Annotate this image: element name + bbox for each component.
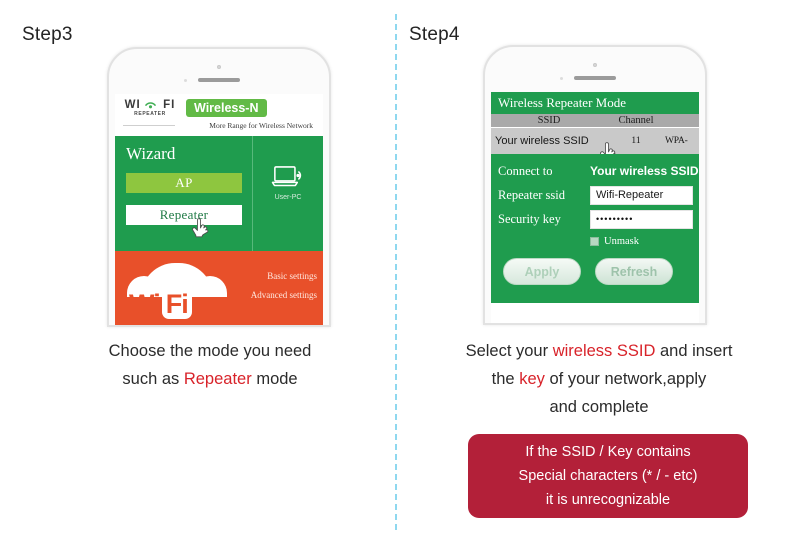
step3-caption-line2-a: such as [122,370,183,388]
step4-caption-line2-a: the [492,370,520,388]
column-header-security [665,115,699,126]
warning-line3: it is unrecognizable [546,488,670,512]
warning-line1: If the SSID / Key contains [525,440,690,464]
wifi-repeater-logo: WI FI REPEATER [121,99,179,117]
step3-caption-line2: such as Repeater mode [30,365,390,393]
proximity-sensor-icon [184,79,187,82]
laptop-device-icon [271,164,305,190]
step3-caption-highlight: Repeater [184,370,252,388]
phone-power-button [705,143,707,173]
phone-power-button [329,145,331,175]
repeater-mode-button[interactable]: Repeater [126,205,242,225]
user-pc-label: User-PC [275,194,302,201]
wifi-large-logo: WiFi [127,263,231,325]
phone-volume-up-button [107,135,109,149]
phone-silent-switch [483,185,485,207]
step3-caption: Choose the mode you need such as Repeate… [30,337,390,393]
basic-settings-link[interactable]: Basic settings [251,267,317,286]
phone-volume-down-button [483,155,485,177]
step3-screen: WI FI REPEATER Wireless-N More Range for… [115,94,323,325]
security-key-row: Security key ••••••••• [491,207,699,231]
wizard-title: Wizard [126,144,242,164]
cell-security: WPA- [665,136,699,146]
step3-caption-line2-b: mode [252,370,298,388]
front-camera-icon [593,63,597,67]
wifi-footer-panel: WiFi Basic settings Advanced settings [115,251,323,325]
repeater-settings-form: Connect to Your wireless SSID Repeater s… [491,154,699,303]
refresh-button[interactable]: Refresh [595,258,673,285]
connect-to-value: Your wireless SSID [590,164,699,178]
step4-caption-highlight-ssid: wireless SSID [553,342,656,360]
phone-volume-down-button [107,157,109,179]
logo-text-fi: FI [163,99,175,111]
unmask-row[interactable]: Unmask [491,231,699,251]
step4-caption: Select your wireless SSID and insert the… [408,337,790,421]
step4-caption-line1-b: and insert [655,342,732,360]
earpiece-speaker [574,76,616,80]
ssid-table-header: SSID Channel [491,114,699,128]
step4-caption-line1-a: Select your [466,342,553,360]
table-row[interactable]: Your wireless SSID 11 WPA- [491,128,699,154]
proximity-sensor-icon [560,77,563,80]
logo-subtitle: REPEATER [121,111,179,117]
repeater-mode-title: Wireless Repeater Mode [491,92,699,114]
wifi-logo-wi: Wi [129,289,160,319]
app-header: WI FI REPEATER Wireless-N More Range for… [115,94,323,136]
warning-line2: Special characters (* / - etc) [519,464,698,488]
phone-volume-up-button [483,133,485,147]
wireless-n-badge: Wireless-N [186,99,267,117]
step4-phone-mockup: Wireless Repeater Mode SSID Channel Your… [483,45,707,325]
wifi-arc-icon [144,98,157,111]
cell-ssid: Your wireless SSID [491,135,607,147]
phone-silent-switch [107,187,109,209]
earpiece-speaker [198,78,240,82]
column-header-ssid: SSID [491,115,607,126]
warning-box: If the SSID / Key contains Special chara… [468,434,748,518]
step4-screen: Wireless Repeater Mode SSID Channel Your… [491,92,699,323]
unmask-checkbox[interactable] [590,237,599,246]
form-actions: Apply Refresh [491,251,699,285]
security-key-input[interactable]: ••••••••• [590,210,693,229]
repeater-ssid-input[interactable]: Wifi-Repeater [590,186,693,205]
step3-label: Step3 [22,24,73,46]
step3-caption-line1: Choose the mode you need [30,337,390,365]
connect-to-label: Connect to [498,164,590,179]
ap-mode-button[interactable]: AP [126,173,242,193]
tutorial-page: Step3 WI FI [0,0,800,539]
header-tagline: More Range for Wireless Network [181,121,315,130]
advanced-settings-link[interactable]: Advanced settings [251,286,317,305]
step4-caption-line2-b: of your network,apply [545,370,706,388]
security-key-label: Security key [498,212,590,227]
repeater-ssid-label: Repeater ssid [498,188,590,203]
repeater-ssid-row: Repeater ssid Wifi-Repeater [491,183,699,207]
step4-caption-line1: Select your wireless SSID and insert [408,337,790,365]
step3-phone-mockup: WI FI REPEATER Wireless-N More Range for… [107,47,331,327]
logo-text-wi: WI [125,99,141,111]
column-header-channel: Channel [607,115,665,126]
unmask-label: Unmask [604,236,639,247]
connect-to-row: Connect to Your wireless SSID [491,159,699,183]
step4-caption-line3: and complete [408,393,790,421]
step4-caption-highlight-key: key [519,370,545,388]
hand-cursor-icon [191,218,210,241]
header-rule [123,125,175,126]
step4-label: Step4 [409,24,460,46]
wizard-panel: Wizard AP Repeater User-PC [115,136,323,251]
apply-button[interactable]: Apply [503,258,581,285]
step-divider [395,14,397,530]
front-camera-icon [217,65,221,69]
wifi-logo-fi: Fi [162,289,192,319]
step4-caption-line2: the key of your network,apply [408,365,790,393]
